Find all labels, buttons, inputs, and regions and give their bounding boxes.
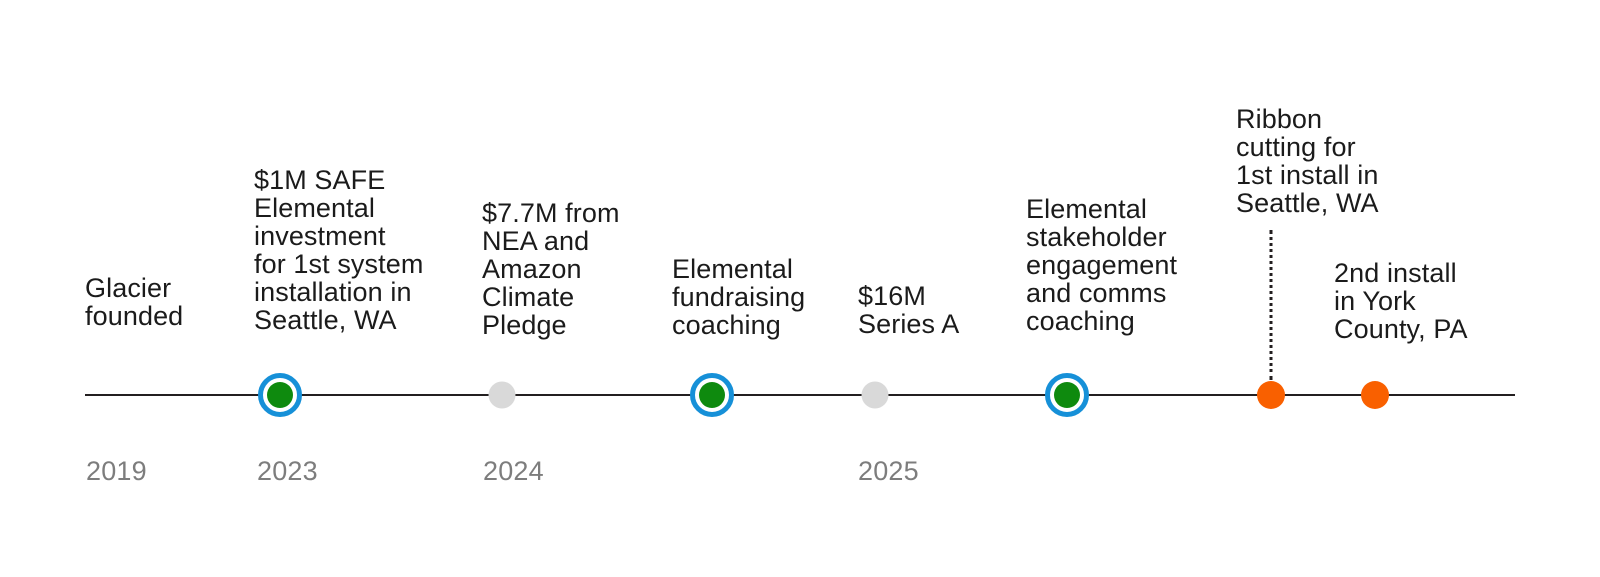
timeline-marker-second-install[interactable] — [1361, 381, 1389, 409]
year-label-2025: 2025 — [858, 456, 919, 486]
timeline-marker-fundraising-coaching[interactable] — [690, 373, 734, 417]
event-label-ribbon-cutting: Ribbon cutting for 1st install in Seattl… — [1236, 105, 1411, 217]
timeline-diagram: Glacier founded $1M SAFE Elemental inves… — [0, 0, 1600, 577]
timeline-connector-ribbon-cutting — [1270, 230, 1273, 380]
timeline-marker-series-a[interactable] — [862, 382, 889, 409]
year-label-2019: 2019 — [86, 456, 147, 486]
event-label-series-a: $16M Series A — [858, 282, 1028, 338]
event-label-nea-amazon-pledge: $7.7M from NEA and Amazon Climate Pledge — [482, 199, 657, 339]
year-label-2024: 2024 — [483, 456, 544, 486]
event-label-glacier-founded: Glacier founded — [85, 274, 265, 330]
timeline-marker-stakeholder-coaching[interactable] — [1045, 373, 1089, 417]
timeline-marker-safe-investment[interactable] — [258, 373, 302, 417]
event-label-second-install: 2nd install in York County, PA — [1334, 259, 1519, 343]
event-label-stakeholder-coaching: Elemental stakeholder engagement and com… — [1026, 195, 1221, 335]
year-label-2023: 2023 — [257, 456, 318, 486]
timeline-marker-nea-amazon-pledge[interactable] — [489, 382, 516, 409]
timeline-marker-ribbon-cutting[interactable] — [1257, 381, 1285, 409]
event-label-fundraising-coaching: Elemental fundraising coaching — [672, 255, 857, 339]
marker-inner-dot — [1054, 382, 1080, 408]
marker-inner-dot — [699, 382, 725, 408]
marker-inner-dot — [267, 382, 293, 408]
event-label-safe-investment: $1M SAFE Elemental investment for 1st sy… — [254, 166, 454, 334]
